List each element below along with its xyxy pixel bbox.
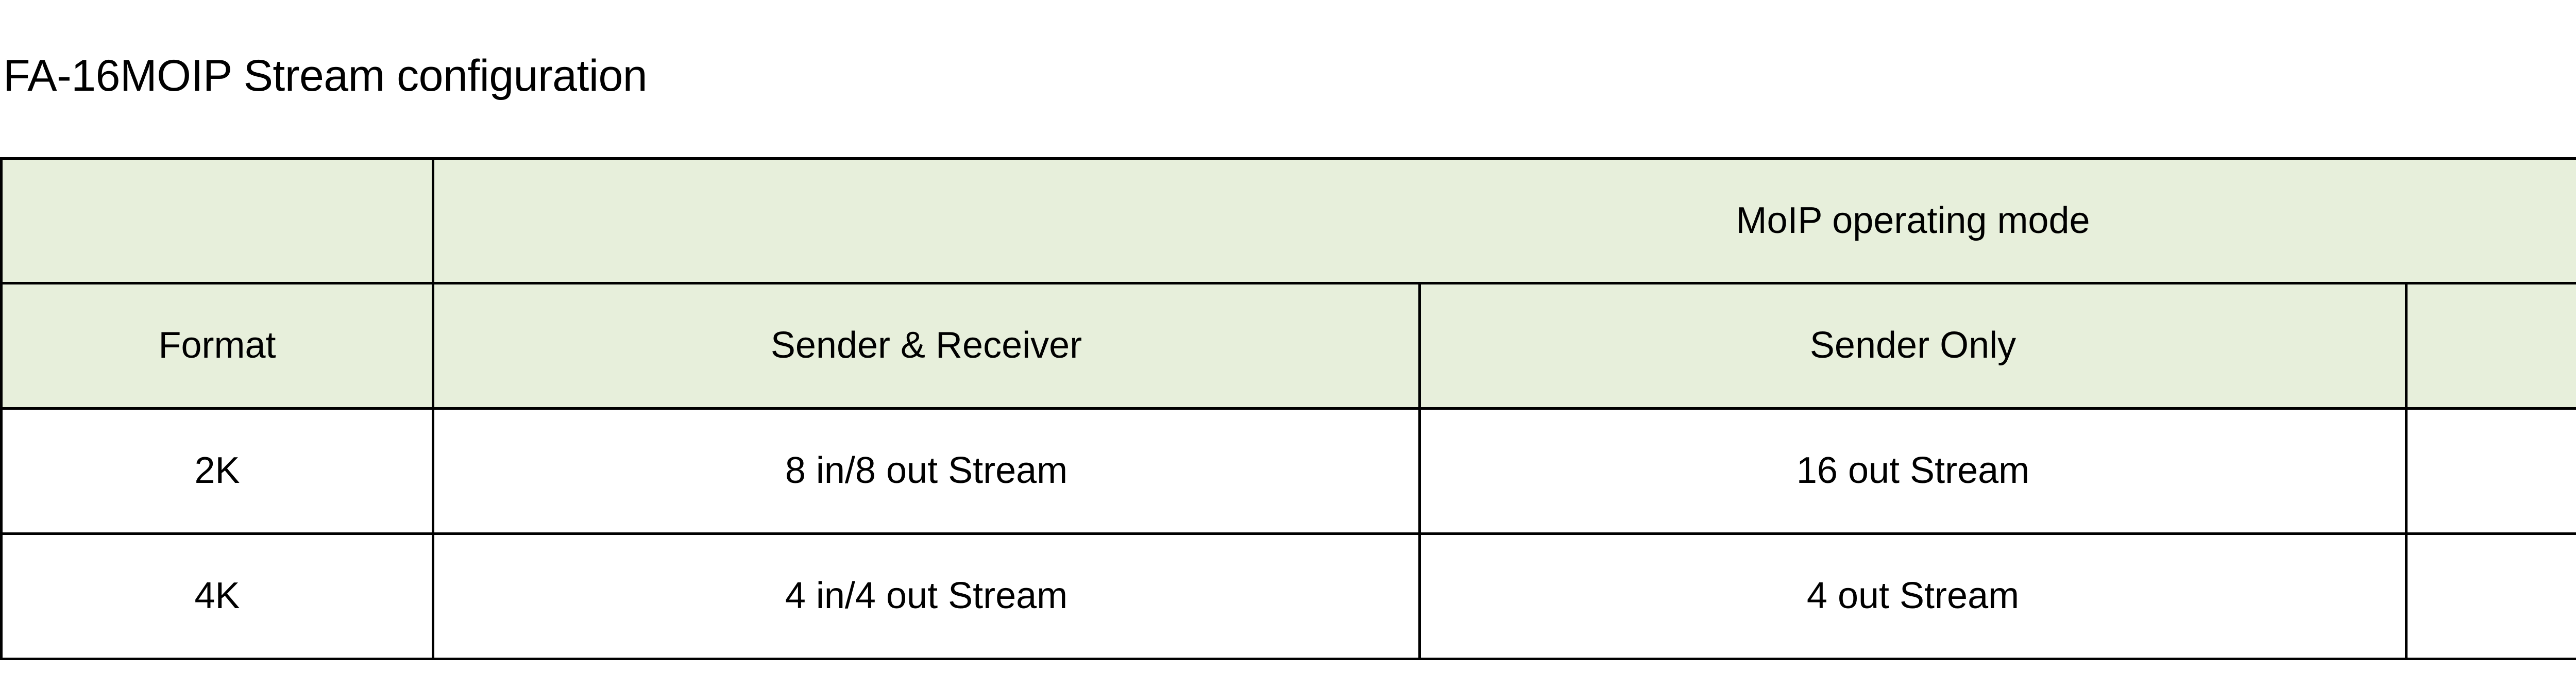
cell-sender-receiver-4k: 4 in/4 out Stream: [433, 534, 1420, 659]
page-root: FA-16MOIP Stream configuration MoIP oper…: [0, 0, 2576, 687]
cell-sender-receiver-2k: 8 in/8 out Stream: [433, 409, 1420, 534]
column-header-row: Format Sender & Receiver Sender Only Rec…: [2, 283, 2576, 409]
cell-receiver-only-2k: 16 in stream: [2406, 409, 2576, 534]
group-header-row: MoIP operating mode: [2, 159, 2576, 283]
column-header-sender-receiver: Sender & Receiver: [433, 283, 1420, 409]
column-header-receiver-only: Receiver Only: [2406, 283, 2576, 409]
table-row: 2K 8 in/8 out Stream 16 out Stream 16 in…: [2, 409, 2576, 534]
cell-sender-only-2k: 16 out Stream: [1420, 409, 2406, 534]
table-row: 4K 4 in/4 out Stream 4 out Stream 4 in s…: [2, 534, 2576, 659]
stream-configuration-table-wrapper: MoIP operating mode Format Sender & Rece…: [0, 157, 2576, 660]
cell-sender-only-4k: 4 out Stream: [1420, 534, 2406, 659]
cell-receiver-only-4k: 4 in stream: [2406, 534, 2576, 659]
corner-cell: [2, 159, 433, 283]
cell-format-2k: 2K: [2, 409, 433, 534]
column-header-format: Format: [2, 283, 433, 409]
column-header-sender-only: Sender Only: [1420, 283, 2406, 409]
table-header: MoIP operating mode Format Sender & Rece…: [2, 159, 2576, 409]
table-body: 2K 8 in/8 out Stream 16 out Stream 16 in…: [2, 409, 2576, 659]
cell-format-4k: 4K: [2, 534, 433, 659]
page-title: FA-16MOIP Stream configuration: [3, 54, 647, 98]
stream-configuration-table: MoIP operating mode Format Sender & Rece…: [0, 157, 2576, 660]
group-header-moip-operating-mode: MoIP operating mode: [433, 159, 2576, 283]
